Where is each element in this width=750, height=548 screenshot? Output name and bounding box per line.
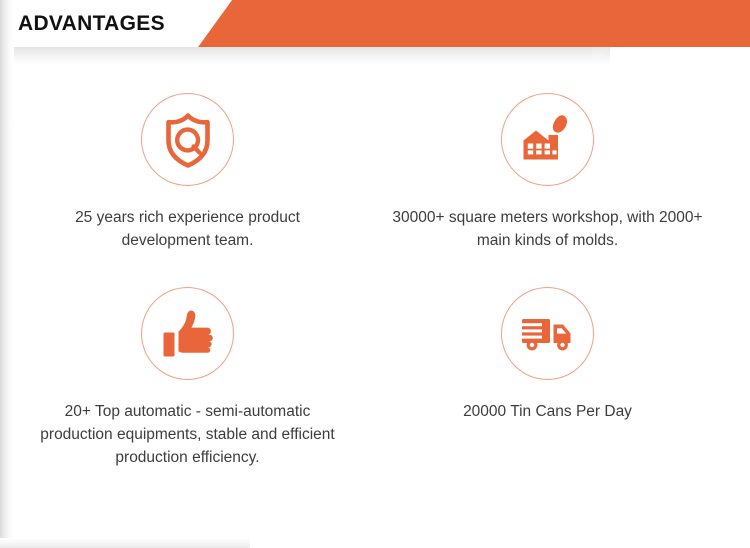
advantage-text: 20+ Top automatic - semi-automatic produ… [0, 401, 375, 470]
advantage-text: 30000+ square meters workshop, with 2000… [360, 207, 735, 253]
icon-circle [501, 93, 594, 186]
delivery-truck-icon [520, 311, 576, 357]
advantages-section: ADVANTAGES 25 years rich experience prod… [0, 0, 750, 548]
advantage-card-capacity: 20000 Tin Cans Per Day [360, 287, 735, 424]
thumbs-up-icon [161, 308, 215, 360]
header-drop-shadow-slant [592, 47, 652, 65]
bottom-edge-shadow [0, 538, 250, 548]
advantage-text: 20000 Tin Cans Per Day [360, 401, 735, 424]
page-title: ADVANTAGES [18, 12, 165, 36]
advantage-card-workshop: 30000+ square meters workshop, with 2000… [360, 93, 735, 253]
icon-circle [501, 287, 594, 380]
section-header: ADVANTAGES [0, 0, 750, 47]
advantage-text: 25 years rich experience product develop… [0, 207, 375, 253]
factory-icon [520, 113, 576, 167]
icon-circle [141, 93, 234, 186]
header-drop-shadow [0, 47, 610, 65]
icon-circle [141, 287, 234, 380]
shield-quality-icon [161, 112, 215, 168]
advantage-card-quality: 25 years rich experience product develop… [0, 93, 375, 253]
advantages-grid: 25 years rich experience product develop… [0, 65, 750, 525]
advantage-card-equipment: 20+ Top automatic - semi-automatic produ… [0, 287, 375, 470]
